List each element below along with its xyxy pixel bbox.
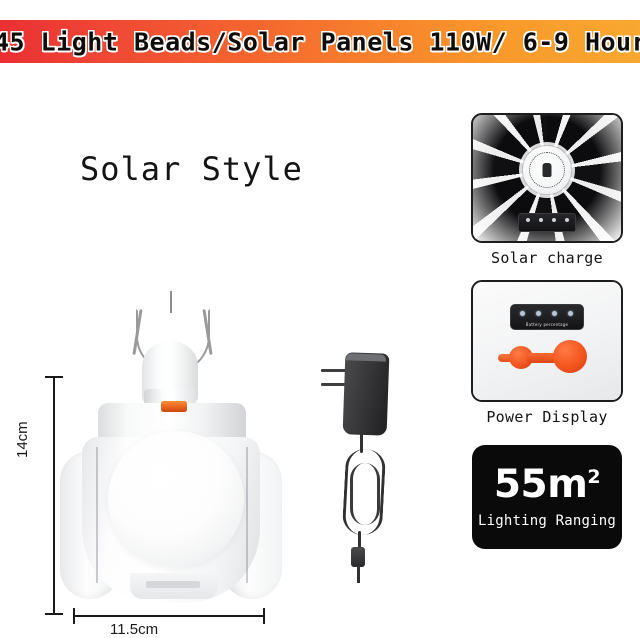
adapter-cable-coil-inner (350, 463, 380, 525)
lighting-range-exponent: 2 (587, 466, 600, 488)
solar-lamp-image (60, 291, 282, 613)
battery-indicator-label: Battery percentage (511, 322, 583, 327)
header-banner: 45 Light Beads/Solar Panels 110W/ 6-9 Ho… (0, 20, 640, 63)
adapter-cable-tail (357, 565, 360, 583)
feature-card-power-display: Battery percentage (471, 280, 623, 402)
adapter-prong-top (321, 369, 347, 372)
solar-led-1 (526, 218, 530, 222)
lamp-seam-right (246, 447, 248, 583)
lighting-range-caption: Lighting Ranging (478, 513, 616, 529)
width-dimension-line (73, 615, 265, 617)
adapter-prong-bottom (321, 383, 347, 386)
solar-indicator-strip (518, 213, 576, 232)
power-adapter-image (312, 345, 418, 585)
solar-led-2 (539, 218, 543, 222)
lighting-range-number: 55m (494, 462, 587, 507)
lighting-range-badge: 55m2 Lighting Ranging (472, 445, 622, 549)
header-banner-text: 45 Light Beads/Solar Panels 110W/ 6-9 Ho… (0, 27, 640, 56)
page-title: Solar Style (80, 150, 303, 188)
feature-card-solar-charge (471, 113, 623, 243)
adapter-dc-plug (351, 547, 365, 567)
product-stage: Solar Style 14cm 11.5cm (0, 63, 450, 633)
lamp-base-vent (146, 581, 200, 588)
battery-led-3 (552, 311, 557, 316)
power-display-photo (473, 282, 621, 400)
battery-led-4 (568, 311, 573, 316)
lamp-diffuser-dome (108, 431, 244, 567)
adapter-body (343, 352, 390, 435)
feature-column: Solar charge Battery percentage Power Di… (459, 113, 635, 549)
height-dimension-cap-bottom (45, 613, 63, 615)
lamp-power-switch (161, 401, 187, 412)
width-dimension-label: 11.5cm (110, 621, 158, 638)
adapter-top-highlight (346, 353, 386, 361)
height-dimension-line (53, 376, 55, 615)
solar-emblem-icon (522, 145, 572, 195)
battery-led-2 (536, 311, 541, 316)
power-knob-large (553, 340, 587, 373)
feature-caption-solar-charge: Solar charge (459, 249, 635, 267)
battery-led-1 (520, 311, 525, 316)
solar-led-3 (552, 218, 556, 222)
height-dimension-label: 14cm (14, 421, 31, 458)
lamp-seam-left (96, 447, 98, 583)
solar-led-4 (565, 218, 569, 222)
feature-caption-power-display: Power Display (459, 408, 635, 426)
lighting-range-value: 55m2 (494, 465, 600, 504)
solar-emblem-mark (543, 163, 552, 177)
battery-indicator-strip: Battery percentage (510, 304, 584, 330)
